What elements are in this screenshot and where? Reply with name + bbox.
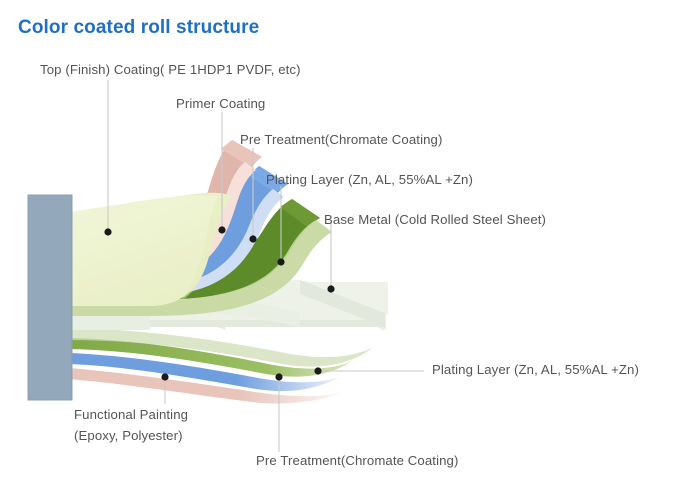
diagram-canvas: Color coated roll structure Top (Finish)…	[0, 0, 680, 492]
label-functional-painting-line2: (Epoxy, Polyester)	[74, 425, 188, 446]
label-primer-coating: Primer Coating	[176, 96, 265, 111]
label-pre-treatment-bottom: Pre Treatment(Chromate Coating)	[256, 453, 458, 468]
label-pre-treatment-top: Pre Treatment(Chromate Coating)	[240, 132, 442, 147]
label-top-finish-coating: Top (Finish) Coating( PE 1HDP1 PVDF, etc…	[40, 62, 301, 77]
page-title: Color coated roll structure	[18, 17, 259, 39]
label-functional-painting-line1: Functional Painting	[74, 404, 188, 425]
label-base-metal: Base Metal (Cold Rolled Steel Sheet)	[324, 212, 546, 227]
roller-block	[28, 195, 72, 400]
label-plating-layer-bottom: Plating Layer (Zn, AL, 55%AL +Zn)	[432, 362, 639, 377]
label-plating-layer-top: Plating Layer (Zn, AL, 55%AL +Zn)	[266, 172, 473, 187]
